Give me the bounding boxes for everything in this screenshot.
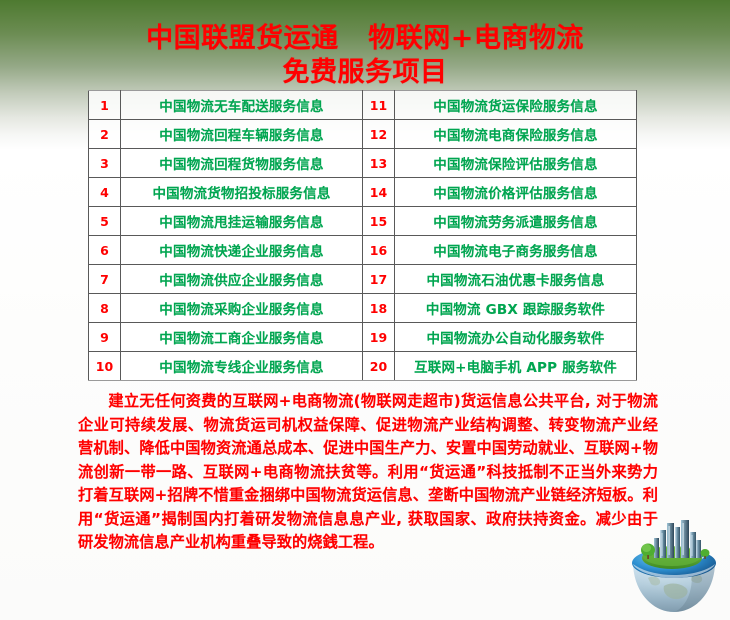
service-items-table: 1 中国物流无车配送服务信息 11 中国物流货运保险服务信息 2 中国物流回程车… <box>88 90 637 381</box>
earth-globe-with-city-skyline-icon <box>620 512 728 618</box>
service-label-right[interactable]: 中国物流保险评估服务信息 <box>395 149 637 178</box>
row-number-right: 20 <box>363 352 395 381</box>
row-number-right: 11 <box>363 91 395 120</box>
service-label-left[interactable]: 中国物流甩挂运输服务信息 <box>121 207 363 236</box>
table-row: 1 中国物流无车配送服务信息 11 中国物流货运保险服务信息 <box>89 91 637 120</box>
body-paragraph: 建立无任何资费的互联网+电商物流(物联网走超市)货运信息公共平台, 对于物流企业… <box>78 390 658 555</box>
row-number-left: 10 <box>89 352 121 381</box>
service-label-left[interactable]: 中国物流货物招投标服务信息 <box>121 178 363 207</box>
service-label-left[interactable]: 中国物流无车配送服务信息 <box>121 91 363 120</box>
service-label-right[interactable]: 中国物流价格评估服务信息 <box>395 178 637 207</box>
service-label-right[interactable]: 中国物流电子商务服务信息 <box>395 236 637 265</box>
row-number-left: 5 <box>89 207 121 236</box>
row-number-left: 4 <box>89 178 121 207</box>
row-number-left: 9 <box>89 323 121 352</box>
table-row: 9 中国物流工商企业服务信息 19 中国物流办公自动化服务软件 <box>89 323 637 352</box>
service-label-left[interactable]: 中国物流回程车辆服务信息 <box>121 120 363 149</box>
row-number-left: 6 <box>89 236 121 265</box>
row-number-right: 14 <box>363 178 395 207</box>
service-label-right[interactable]: 中国物流石油优惠卡服务信息 <box>395 265 637 294</box>
service-label-left[interactable]: 中国物流专线企业服务信息 <box>121 352 363 381</box>
table-row: 10 中国物流专线企业服务信息 20 互联网+电脑手机 APP 服务软件 <box>89 352 637 381</box>
service-label-right[interactable]: 中国物流电商保险服务信息 <box>395 120 637 149</box>
table-row: 2 中国物流回程车辆服务信息 12 中国物流电商保险服务信息 <box>89 120 637 149</box>
table-row: 8 中国物流采购企业服务信息 18 中国物流 GBX 跟踪服务软件 <box>89 294 637 323</box>
row-number-right: 15 <box>363 207 395 236</box>
row-number-left: 1 <box>89 91 121 120</box>
page-title-line-2: 免费服务项目 <box>0 56 730 90</box>
row-number-left: 2 <box>89 120 121 149</box>
page-title: 中国联盟货运通 物联网+电商物流 免费服务项目 <box>0 22 730 90</box>
service-label-left[interactable]: 中国物流采购企业服务信息 <box>121 294 363 323</box>
service-label-right[interactable]: 中国物流 GBX 跟踪服务软件 <box>395 294 637 323</box>
service-label-left[interactable]: 中国物流快递企业服务信息 <box>121 236 363 265</box>
slide-canvas: 中国联盟货运通 物联网+电商物流 免费服务项目 1 中国物流无车配送服务信息 1… <box>0 0 730 620</box>
row-number-right: 17 <box>363 265 395 294</box>
row-number-right: 16 <box>363 236 395 265</box>
service-label-left[interactable]: 中国物流回程货物服务信息 <box>121 149 363 178</box>
service-label-right[interactable]: 互联网+电脑手机 APP 服务软件 <box>395 352 637 381</box>
table-row: 3 中国物流回程货物服务信息 13 中国物流保险评估服务信息 <box>89 149 637 178</box>
service-items-table-body: 1 中国物流无车配送服务信息 11 中国物流货运保险服务信息 2 中国物流回程车… <box>89 91 637 381</box>
service-label-right[interactable]: 中国物流办公自动化服务软件 <box>395 323 637 352</box>
service-label-left[interactable]: 中国物流工商企业服务信息 <box>121 323 363 352</box>
page-title-line-1: 中国联盟货运通 物联网+电商物流 <box>0 22 730 56</box>
row-number-right: 13 <box>363 149 395 178</box>
table-row: 6 中国物流快递企业服务信息 16 中国物流电子商务服务信息 <box>89 236 637 265</box>
service-label-left[interactable]: 中国物流供应企业服务信息 <box>121 265 363 294</box>
row-number-right: 12 <box>363 120 395 149</box>
service-label-right[interactable]: 中国物流劳务派遣服务信息 <box>395 207 637 236</box>
service-label-right[interactable]: 中国物流货运保险服务信息 <box>395 91 637 120</box>
row-number-left: 8 <box>89 294 121 323</box>
table-row: 7 中国物流供应企业服务信息 17 中国物流石油优惠卡服务信息 <box>89 265 637 294</box>
row-number-left: 7 <box>89 265 121 294</box>
table-row: 4 中国物流货物招投标服务信息 14 中国物流价格评估服务信息 <box>89 178 637 207</box>
table-row: 5 中国物流甩挂运输服务信息 15 中国物流劳务派遣服务信息 <box>89 207 637 236</box>
row-number-right: 18 <box>363 294 395 323</box>
row-number-left: 3 <box>89 149 121 178</box>
row-number-right: 19 <box>363 323 395 352</box>
